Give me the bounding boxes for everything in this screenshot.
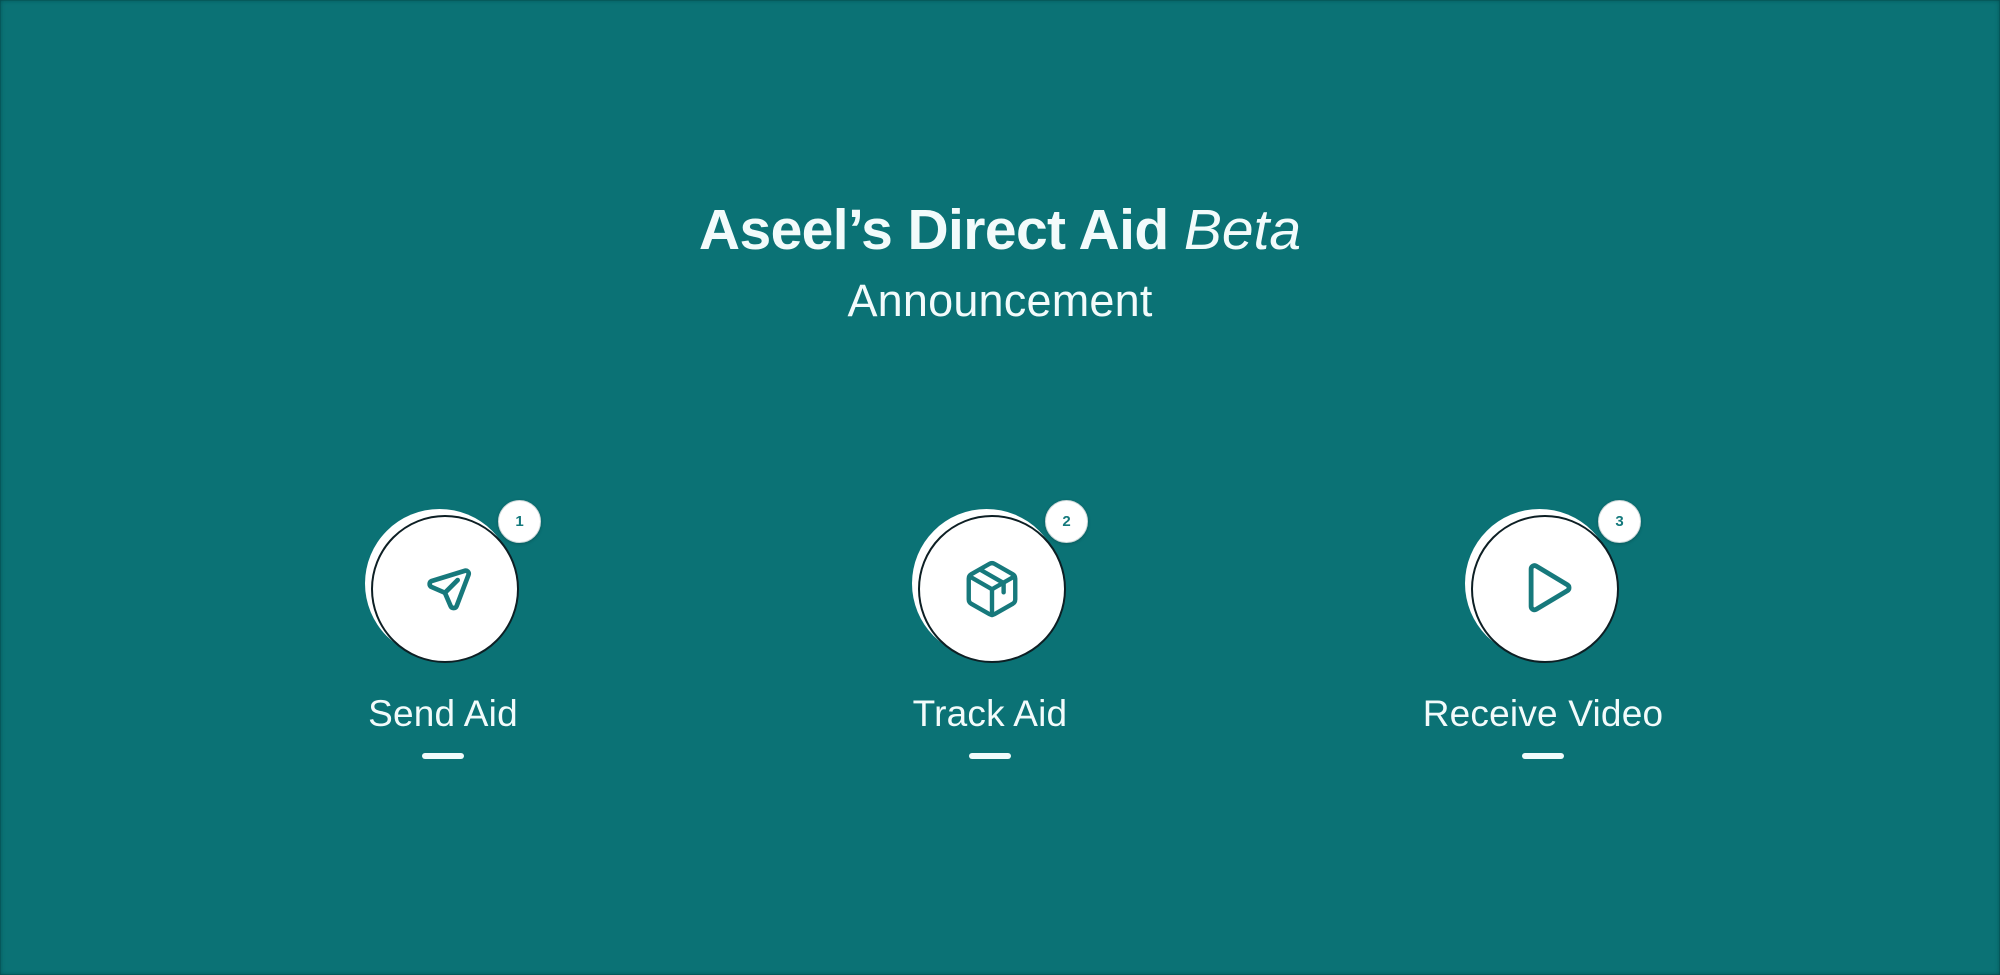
page-title: Aseel’s Direct Aid Beta [0,200,2000,262]
heading-block: Aseel’s Direct Aid Beta Announcement [0,200,2000,325]
step-icon-disc[interactable] [1471,515,1619,663]
package-icon [961,558,1023,620]
step-circle-wrap: 3 [1393,500,1693,675]
step-number-badge: 2 [1045,500,1088,543]
step-icon-disc[interactable] [371,515,519,663]
page-subtitle: Announcement [0,276,2000,326]
step-item-receive-video[interactable]: 3 Receive Video [1393,500,1693,675]
step-number-badge: 1 [498,500,541,543]
steps-row: 1 Send Aid 2 Track Aid [0,500,2000,820]
step-label: Send Aid [293,693,593,735]
step-item-send-aid[interactable]: 1 Send Aid [293,500,593,675]
step-icon-disc[interactable] [918,515,1066,663]
step-label: Track Aid [840,693,1140,735]
step-label-underline [1522,753,1564,759]
step-number-badge: 3 [1598,500,1641,543]
edge-vignette [0,0,2000,975]
title-beta-text: Beta [1184,198,1301,262]
step-circle-wrap: 1 [293,500,593,675]
step-label-underline [422,753,464,759]
send-icon [412,556,478,622]
step-label-underline [969,753,1011,759]
step-label: Receive Video [1393,693,1693,735]
play-icon [1511,555,1579,623]
step-item-track-aid[interactable]: 2 Track Aid [840,500,1140,675]
step-circle-wrap: 2 [840,500,1140,675]
title-main-text: Aseel’s Direct Aid [699,198,1184,262]
